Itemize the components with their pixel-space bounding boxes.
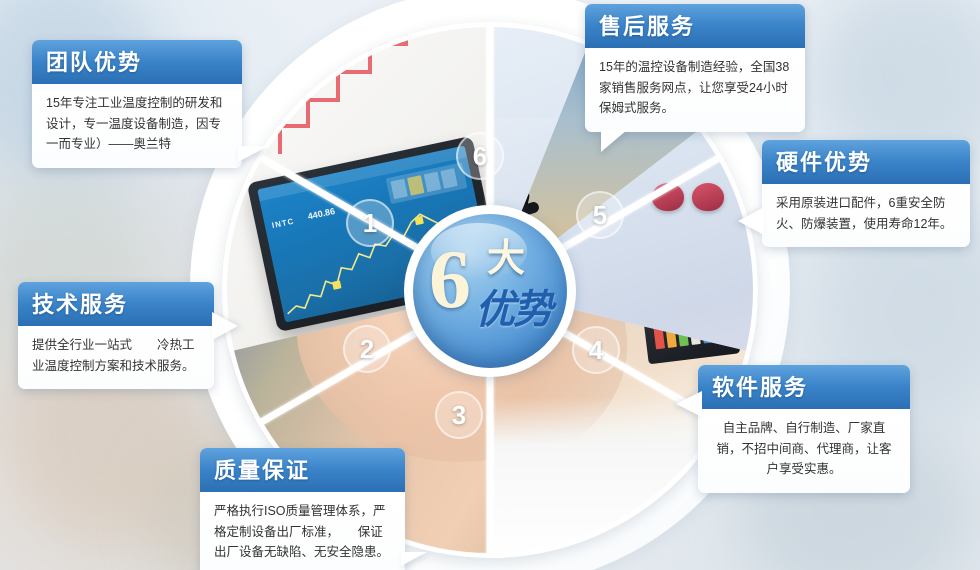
callout-tail [238, 146, 268, 162]
card-body-quality: 严格执行ISO质量管理体系，严格定制设备出厂标准， 保证出厂设备无缺陷、无安全隐… [200, 492, 405, 570]
callout-tail [212, 312, 238, 340]
center-number: 6 [429, 238, 471, 322]
card-body-after-sales: 15年的温控设备制造经验，全国38家销售服务网点，让您享受24小时保姆式服务。 [585, 48, 805, 132]
infographic-canvas: INTC 440.86 [0, 0, 980, 570]
card-body-hardware: 采用原装进口配件，6重安全防火、防爆装置，使用寿命12年。 [762, 184, 970, 247]
callout-card-quality[interactable]: 质量保证 严格执行ISO质量管理体系，严格定制设备出厂标准， 保证出厂设备无缺陷… [200, 448, 405, 570]
segment-number-5[interactable]: 5 [576, 191, 624, 239]
segment-number-1[interactable]: 1 [346, 199, 394, 247]
callout-card-team[interactable]: 团队优势 15年专注工业温度控制的研发和设计，专一温度设备制造，因专一而专业）—… [32, 40, 242, 168]
chart-marker [332, 280, 341, 289]
card-body-team: 15年专注工业温度控制的研发和设计，专一温度设备制造，因专一而专业）——奥兰特 [32, 84, 242, 168]
segment-number-6[interactable]: 6 [456, 132, 504, 180]
card-title-after-sales: 售后服务 [585, 4, 805, 48]
callout-card-software[interactable]: 软件服务 自主品牌、自行制造、厂家直销，不招中间商、代理商，让客户享受实惠。 [698, 365, 910, 493]
segment-number-3[interactable]: 3 [435, 391, 483, 439]
card-title-tech: 技术服务 [18, 282, 214, 326]
card-body-software: 自主品牌、自行制造、厂家直销，不招中间商、代理商，让客户享受实惠。 [698, 409, 910, 493]
center-hub-text: 6 大 优势 [413, 214, 567, 368]
center-hub: 6 大 优势 [404, 205, 576, 377]
segment-number-4[interactable]: 4 [572, 326, 620, 374]
sunglasses-icon [652, 183, 726, 213]
callout-tail [401, 552, 427, 566]
callout-card-tech[interactable]: 技术服务 提供全行业一站式 冷热工业温度控制方案和技术服务。 [18, 282, 214, 389]
card-body-tech: 提供全行业一站式 冷热工业温度控制方案和技术服务。 [18, 326, 214, 389]
callout-tail [676, 391, 702, 417]
card-title-quality: 质量保证 [200, 448, 405, 492]
center-big-char: 大 [487, 240, 525, 278]
callout-tail [601, 130, 627, 152]
callout-tail [738, 207, 764, 235]
callout-card-after-sales[interactable]: 售后服务 15年的温控设备制造经验，全国38家销售服务网点，让您享受24小时保姆… [585, 4, 805, 132]
segment-number-2[interactable]: 2 [343, 325, 391, 373]
center-hub-circle: 6 大 优势 [413, 214, 567, 368]
card-title-software: 软件服务 [698, 365, 910, 409]
card-title-hardware: 硬件优势 [762, 140, 970, 184]
center-suffix: 优势 [475, 288, 551, 332]
red-trend-line-icon [274, 22, 454, 164]
callout-card-hardware[interactable]: 硬件优势 采用原装进口配件，6重安全防火、防爆装置，使用寿命12年。 [762, 140, 970, 247]
card-title-team: 团队优势 [32, 40, 242, 84]
